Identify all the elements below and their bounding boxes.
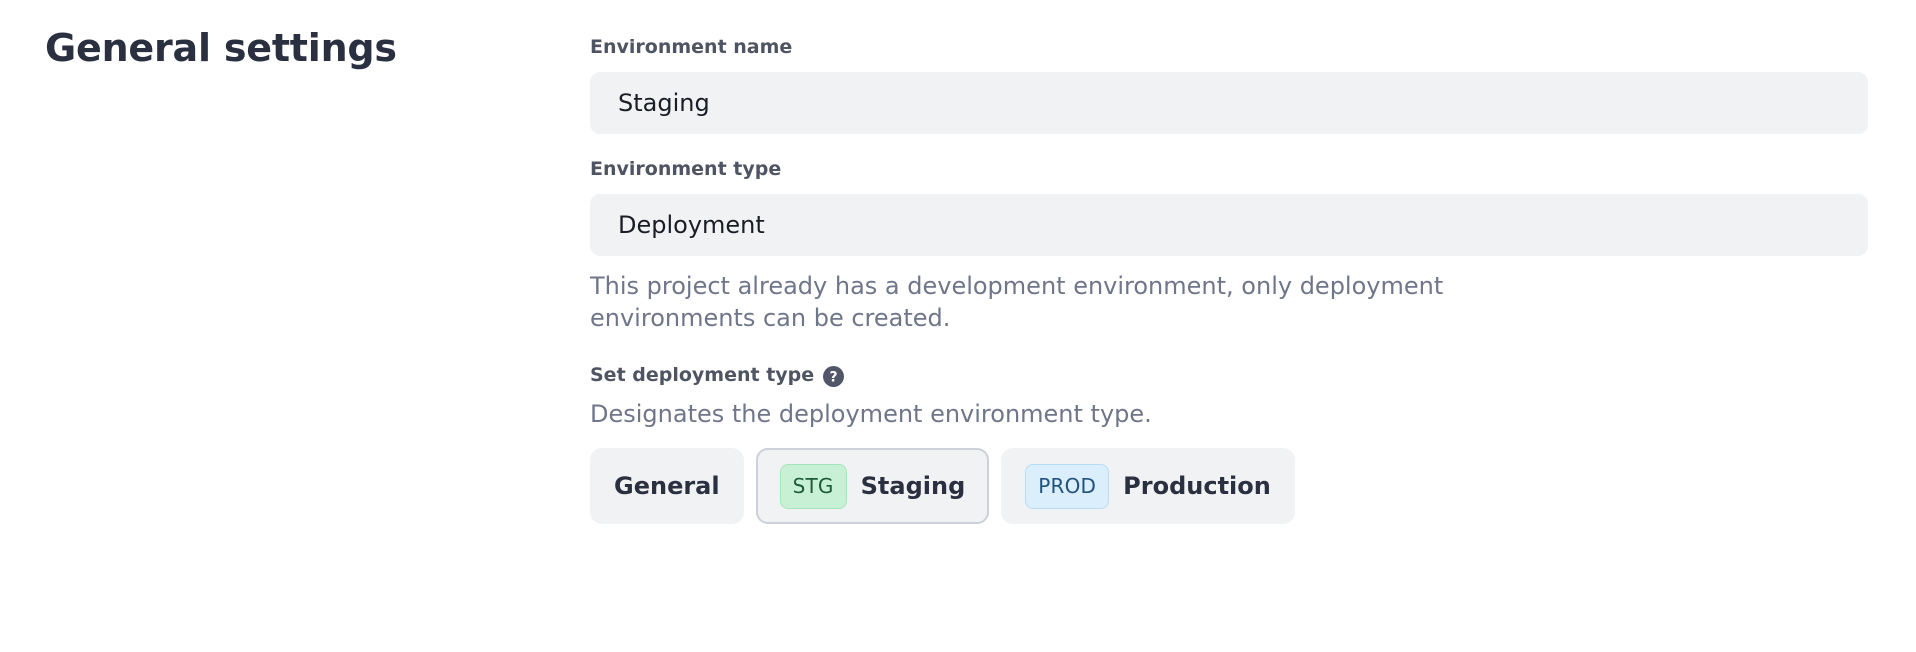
deployment-type-option-group: General STG Staging PROD Production: [590, 448, 1868, 524]
deployment-type-option-staging[interactable]: STG Staging: [756, 448, 990, 524]
environment-type-label: Environment type: [590, 158, 1868, 182]
environment-type-field: Environment type This project already ha…: [590, 158, 1868, 335]
environment-type-input[interactable]: [590, 194, 1868, 256]
deployment-type-description: Designates the deployment environment ty…: [590, 398, 1868, 430]
stg-badge: STG: [780, 464, 847, 509]
deployment-type-option-production[interactable]: PROD Production: [1001, 448, 1295, 524]
settings-section-header: General settings: [45, 26, 545, 72]
environment-name-label: Environment name: [590, 36, 1868, 60]
deployment-type-field: Set deployment type ? Designates the dep…: [590, 364, 1868, 524]
help-circle-icon[interactable]: ?: [823, 366, 844, 387]
deployment-type-label-row: Set deployment type ?: [590, 364, 1868, 388]
prod-badge: PROD: [1025, 464, 1109, 509]
general-settings-page: General settings Environment name Enviro…: [0, 0, 1916, 652]
settings-form: Environment name Environment type This p…: [590, 36, 1868, 524]
environment-name-field: Environment name: [590, 36, 1868, 134]
svg-text:?: ?: [830, 369, 838, 385]
environment-type-helper-text: This project already has a development e…: [590, 270, 1490, 335]
deployment-type-label: Set deployment type: [590, 364, 814, 388]
option-label: Production: [1123, 472, 1271, 500]
page-title: General settings: [45, 26, 545, 72]
option-label: Staging: [861, 472, 966, 500]
environment-name-input[interactable]: [590, 72, 1868, 134]
deployment-type-option-general[interactable]: General: [590, 448, 744, 524]
option-label: General: [614, 472, 720, 500]
